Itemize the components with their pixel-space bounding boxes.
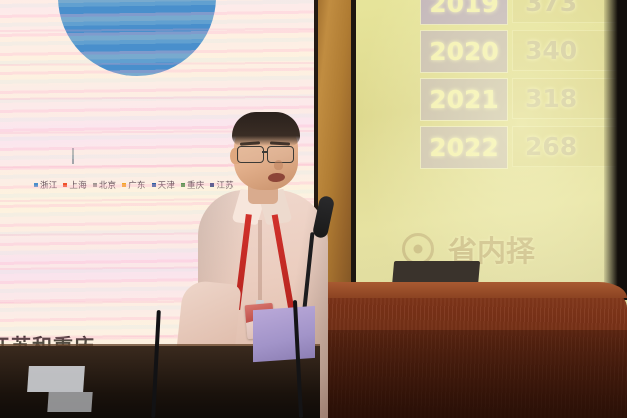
legend-swatch-icon	[181, 183, 185, 187]
desk-paper-top	[27, 366, 85, 392]
pie-chart-disc	[58, 0, 216, 76]
podium-shadow	[297, 330, 627, 418]
table-row: 2019373	[420, 0, 627, 25]
glasses-lens-left	[237, 146, 264, 163]
screenshot-stage: 浙江上海北京广东天津重庆江苏 江苏和重庆。 201937320203402021…	[0, 0, 627, 418]
table-cell-year: 2021	[420, 78, 508, 121]
legend-item: 浙江	[34, 179, 57, 191]
legend-item: 北京	[93, 179, 116, 191]
year-value-table: 2019373202034020213182022268	[420, 0, 627, 169]
legend-item: 广东	[122, 179, 145, 191]
table-cell-year: 2019	[420, 0, 508, 25]
table-cell-year: 2022	[420, 126, 508, 169]
right-wall-shadow	[604, 0, 627, 300]
legend-label: 北京	[99, 179, 116, 191]
legend-label: 天津	[158, 179, 175, 191]
legend-label: 广东	[128, 179, 145, 191]
table-cell-year: 2020	[420, 30, 508, 73]
table-row: 2022268	[420, 126, 627, 169]
legend-label: 上海	[69, 179, 86, 191]
legend-swatch-icon	[122, 183, 126, 187]
pie-chart-leader-line	[72, 148, 74, 164]
legend-swatch-icon	[34, 183, 38, 187]
speaker-hair	[232, 112, 300, 146]
legend-swatch-icon	[63, 183, 67, 187]
glasses-icon	[234, 146, 298, 162]
legend-swatch-icon	[93, 183, 97, 187]
legend-label: 浙江	[40, 179, 57, 191]
table-row: 2020340	[420, 30, 627, 73]
legend-item: 天津	[152, 179, 175, 191]
legend-swatch-icon	[152, 183, 156, 187]
desk-paper-bottom	[47, 392, 92, 412]
podium-top-surface	[297, 282, 627, 298]
legend-item: 上海	[63, 179, 86, 191]
table-row: 2021318	[420, 78, 627, 121]
speaker-nose	[274, 160, 283, 170]
purple-folder	[253, 306, 315, 362]
pie-chart	[58, 0, 216, 76]
